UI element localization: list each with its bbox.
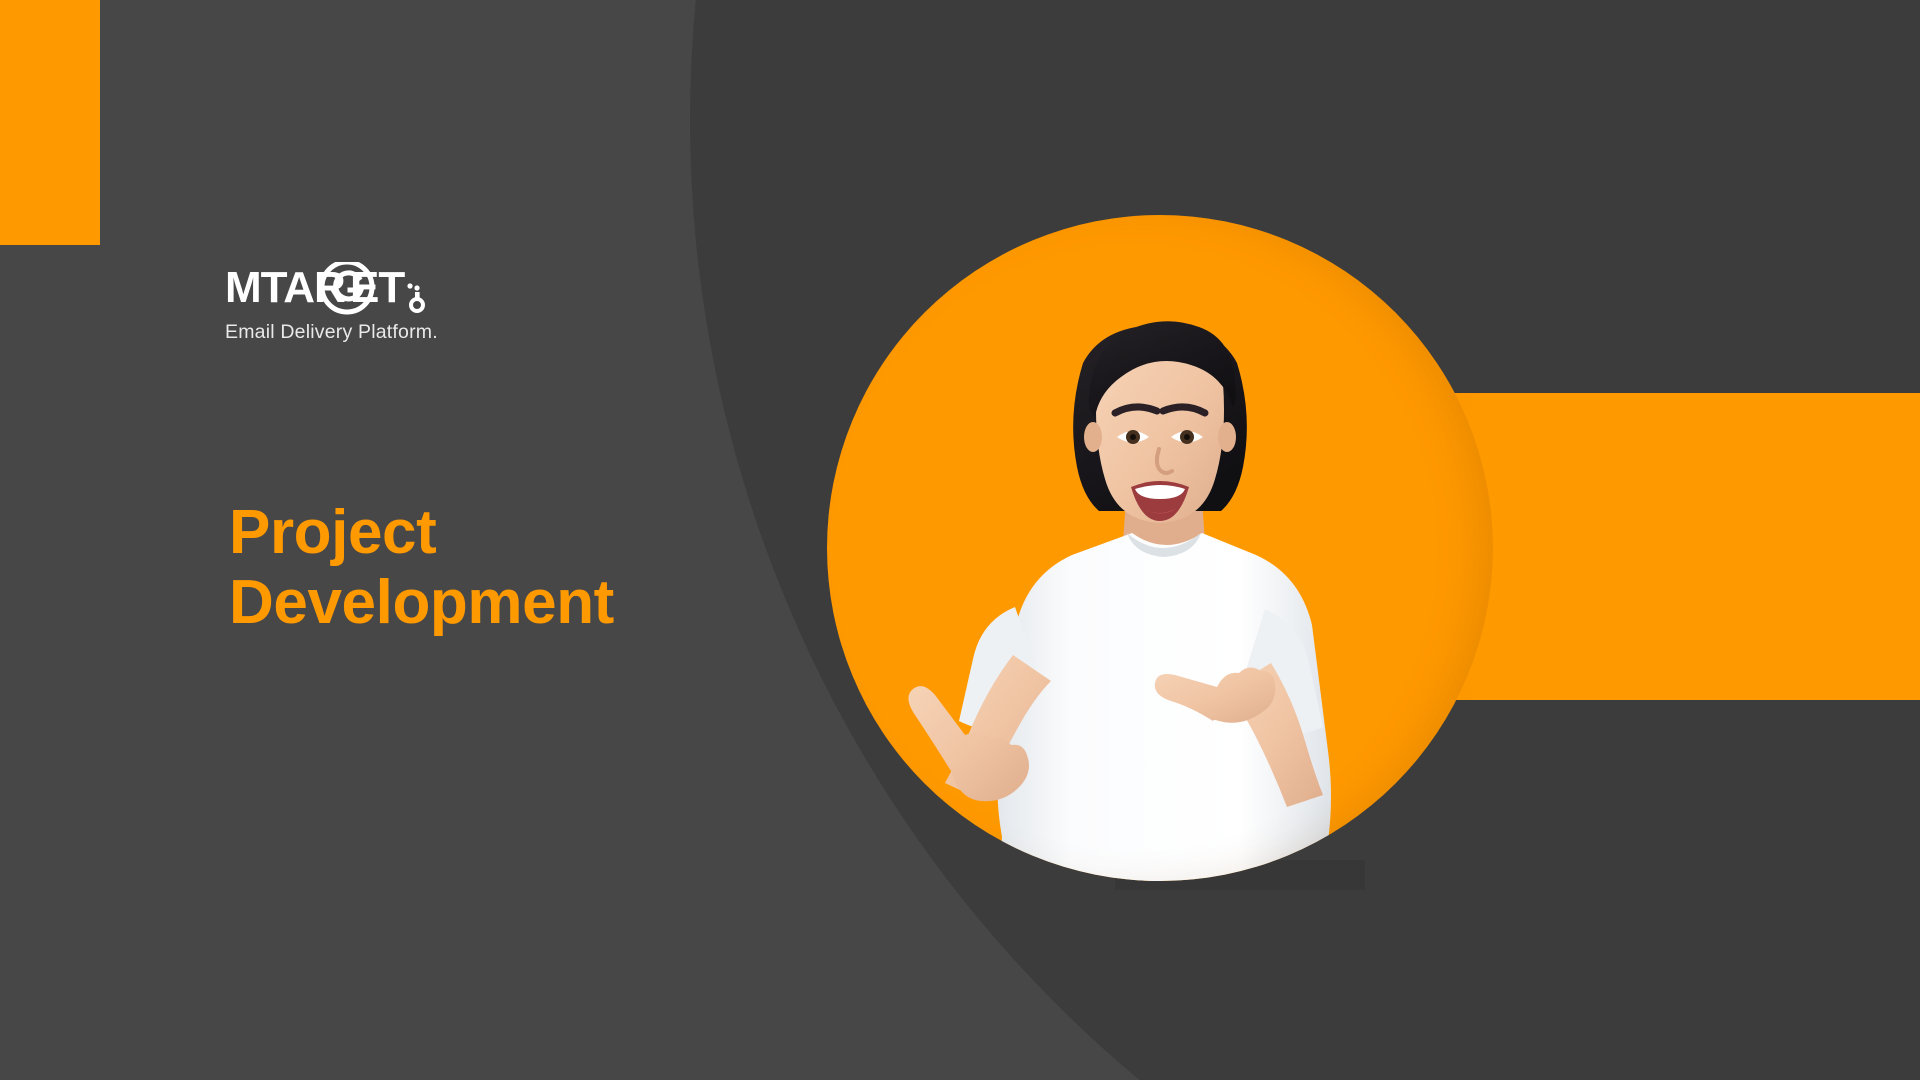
orange-corner-block: [0, 0, 100, 245]
banner-canvas: MTAR ET Email Delivery Platform. Project…: [0, 0, 1920, 1080]
orange-hero-circle: [827, 215, 1493, 881]
brand-logo: MTAR ET Email Delivery Platform.: [225, 262, 485, 343]
person-photo: [827, 215, 1493, 881]
logo-tagline: Email Delivery Platform.: [225, 323, 485, 343]
page-title: Project Development: [229, 498, 614, 638]
logo-wordmark: MTAR ET: [225, 262, 485, 314]
